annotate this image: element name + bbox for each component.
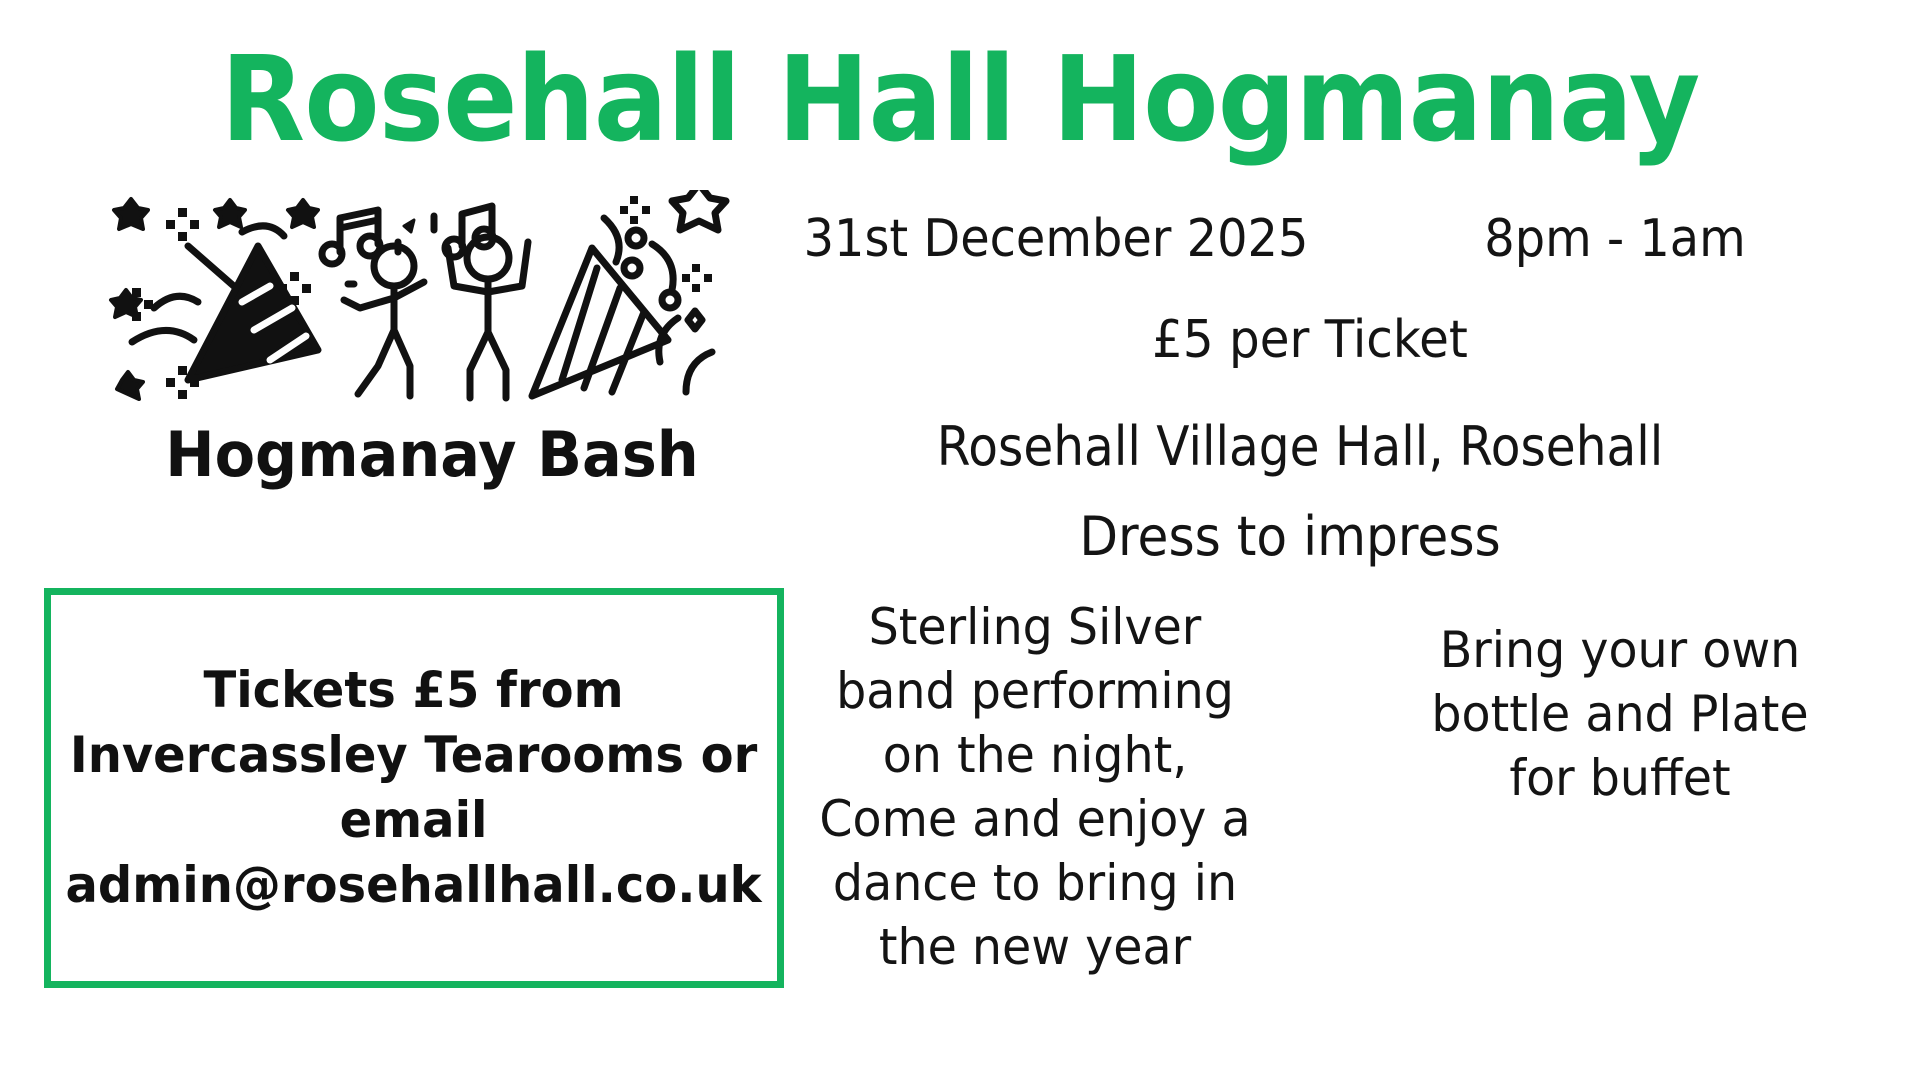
ticket-price: £5 per Ticket [817,310,1803,370]
byob-notice: Bring your own bottle and Plate for buff… [1411,618,1829,810]
dancing-person-icon [448,237,528,398]
event-time: 8pm - 1am [1399,210,1831,270]
party-popper-icon [532,248,668,396]
date-time-row: 31st December 2025 8pm - 1am [780,210,1900,270]
page-title: Rosehall Hall Hogmanay [67,38,1853,161]
event-poster: Rosehall Hall Hogmanay [0,0,1920,1080]
dress-code: Dress to impress [797,505,1783,568]
party-popper-illustration [92,190,772,415]
ticket-info-box: Tickets £5 from Invercassley Tearooms or… [44,588,784,988]
hogmanay-bash-graphic: Hogmanay Bash [92,190,772,530]
ticket-info-text: Tickets £5 from Invercassley Tearooms or… [53,658,776,918]
graphic-caption: Hogmanay Bash [109,421,755,489]
music-note-icon [322,210,380,264]
event-date: 31st December 2025 [780,210,1332,270]
dancing-person-icon [344,246,424,396]
band-description: Sterling Silver band performing on the n… [812,595,1259,979]
event-venue: Rosehall Village Hall, Rosehall [814,415,1786,478]
